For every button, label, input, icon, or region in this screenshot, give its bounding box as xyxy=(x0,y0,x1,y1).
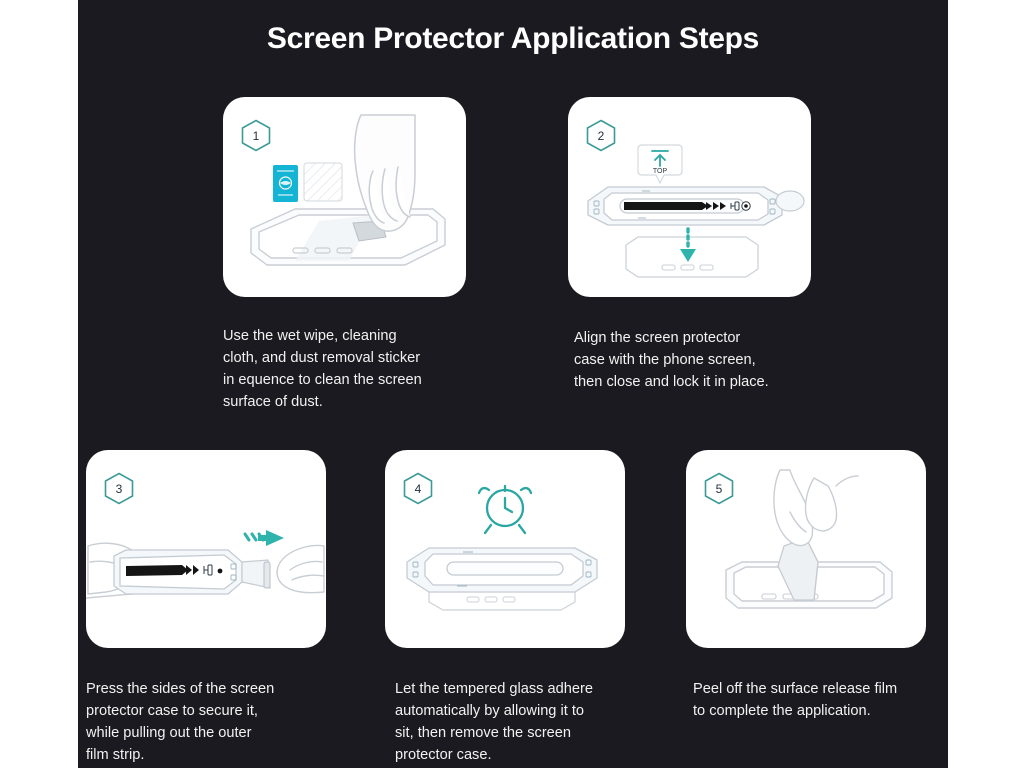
screenshot-root: Screen Protector Application Steps 1 xyxy=(0,0,1024,768)
step-caption-5: Peel off the surface release film to com… xyxy=(693,678,948,722)
step-caption-1: Use the wet wipe, cleaning cloth, and du… xyxy=(223,325,493,413)
step-card-1: 1 xyxy=(223,97,466,297)
top-label-text: TOP xyxy=(653,168,668,175)
alarm-clock-icon xyxy=(479,486,531,533)
step-4-illustration xyxy=(385,450,625,648)
step-card-2: 2 TOP xyxy=(568,97,811,297)
step-1-illustration xyxy=(223,97,466,297)
top-label-callout xyxy=(638,145,682,183)
step-card-3: 3 xyxy=(86,450,326,648)
step-caption-4: Let the tempered glass adhere automatica… xyxy=(395,678,665,766)
step-card-4: 4 xyxy=(385,450,625,648)
step-5-illustration xyxy=(686,450,926,648)
step-caption-2: Align the screen protector case with the… xyxy=(574,327,844,393)
step-caption-3: Press the sides of the screen protector … xyxy=(86,678,346,766)
instruction-panel: Screen Protector Application Steps 1 xyxy=(78,0,948,768)
page-title: Screen Protector Application Steps xyxy=(78,22,948,56)
step-2-illustration: TOP xyxy=(568,97,811,297)
step-3-illustration xyxy=(86,450,326,648)
pull-arrow-icon xyxy=(245,530,284,546)
step-card-5: 5 xyxy=(686,450,926,648)
